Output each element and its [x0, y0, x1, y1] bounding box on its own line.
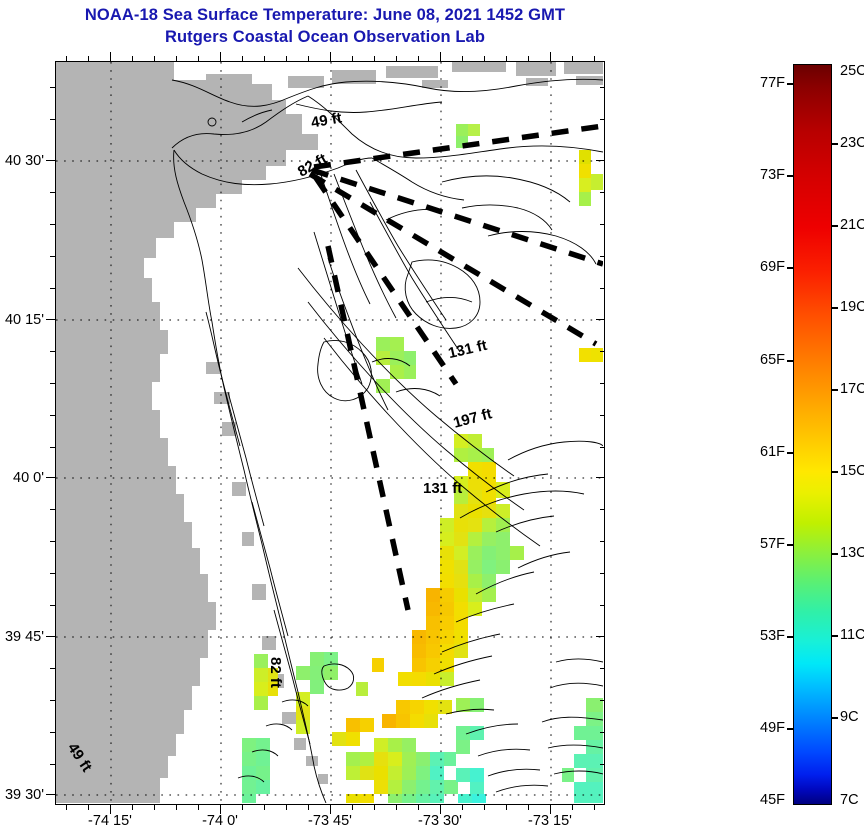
y-axis-label: 40 0' [0, 470, 44, 486]
y-tick-minor [50, 351, 55, 352]
y-tick-major [46, 160, 55, 161]
x-axis-label: -74 15' [88, 813, 132, 829]
y-tick-minor [50, 732, 55, 733]
x-tick-top [594, 56, 595, 61]
x-tick-minor [418, 805, 419, 810]
y-tick-major [46, 319, 55, 320]
colorbar-tick-c [831, 553, 838, 555]
x-tick-top [440, 52, 441, 61]
x-tick-top [176, 56, 177, 61]
map-clip: 49 ft 82 ft 131 ft 197 ft 131 ft 82 ft 4… [56, 62, 604, 804]
x-tick-minor [528, 805, 529, 810]
colorbar-label-c: 25C [840, 63, 864, 79]
x-tick-minor [308, 805, 309, 810]
colorbar-label-c: 23C [840, 135, 864, 151]
x-tick-minor [396, 805, 397, 810]
x-tick-top [110, 52, 111, 61]
y-tick-major [46, 477, 55, 478]
x-tick-top [374, 56, 375, 61]
y-tick-major [46, 794, 55, 795]
chart-title-block: NOAA-18 Sea Surface Temperature: June 08… [0, 4, 650, 48]
y-tick-right [600, 447, 605, 448]
colorbar-tick-c [831, 471, 838, 473]
colorbar-tick-f [787, 83, 794, 85]
land-mask [56, 62, 603, 803]
x-tick-top [220, 52, 221, 61]
y-tick-right [600, 573, 605, 574]
colorbar-label-f: 69F [760, 259, 785, 275]
x-tick-minor [176, 805, 177, 810]
x-tick-minor [264, 805, 265, 810]
x-tick-top [506, 56, 507, 61]
x-tick-minor [66, 805, 67, 810]
x-tick-minor [374, 805, 375, 810]
y-tick-minor [50, 447, 55, 448]
y-axis-label: 40 15' [0, 312, 44, 328]
x-axis-label: -73 45' [308, 813, 352, 829]
x-tick-top [550, 52, 551, 61]
map-graphics [56, 62, 603, 803]
y-tick-right [600, 119, 605, 120]
x-tick-top [154, 56, 155, 61]
x-tick-minor [154, 805, 155, 810]
y-tick-minor [50, 224, 55, 225]
x-tick-minor [198, 805, 199, 810]
y-tick-minor [50, 764, 55, 765]
colorbar-tick-f [787, 636, 794, 638]
depth-label-82ft-south: 82 ft [267, 657, 284, 688]
title-line-2: Rutgers Coastal Ocean Observation Lab [0, 26, 650, 48]
colorbar-tick-f [787, 728, 794, 730]
colorbar-tick-f [787, 175, 794, 177]
x-tick-minor [242, 805, 243, 810]
colorbar-label-f: 45F [760, 792, 785, 808]
x-tick-minor [286, 805, 287, 810]
x-tick-minor [572, 805, 573, 810]
sst-map-plot-area[interactable]: 49 ft 82 ft 131 ft 197 ft 131 ft 82 ft 4… [55, 61, 605, 805]
y-tick-right [600, 224, 605, 225]
colorbar-label-f: 73F [760, 167, 785, 183]
colorbar-label-c: 9C [840, 709, 859, 725]
x-tick-minor [594, 805, 595, 810]
y-tick-right [596, 636, 605, 637]
colorbar-tick-c [831, 635, 838, 637]
x-tick-top [462, 56, 463, 61]
y-tick-minor [50, 700, 55, 701]
y-tick-minor [50, 509, 55, 510]
x-tick-top [198, 56, 199, 61]
colorbar-label-f: 65F [760, 352, 785, 368]
x-tick-minor [88, 805, 89, 810]
y-axis-label: 39 45' [0, 629, 44, 645]
x-axis-label: -73 15' [528, 813, 572, 829]
colorbar-label-f: 57F [760, 536, 785, 552]
colorbar-label-c: 15C [840, 463, 864, 479]
colorbar-label-c: 11C [840, 627, 864, 643]
colorbar-gradient [794, 65, 831, 804]
y-tick-minor [50, 87, 55, 88]
colorbar-tick-f [787, 360, 794, 362]
x-tick-top [308, 56, 309, 61]
x-tick-minor [484, 805, 485, 810]
y-tick-minor [50, 192, 55, 193]
colorbar-tick-f [787, 452, 794, 454]
y-tick-right [600, 288, 605, 289]
x-tick-top [484, 56, 485, 61]
x-tick-top [242, 56, 243, 61]
y-tick-right [596, 319, 605, 320]
colorbar-label-c: 19C [840, 299, 864, 315]
y-tick-right [596, 160, 605, 161]
x-tick-minor [352, 805, 353, 810]
y-axis-label: 39 30' [0, 787, 44, 803]
y-tick-major [46, 636, 55, 637]
colorbar-tick-c [831, 717, 838, 719]
y-tick-right [600, 192, 605, 193]
x-tick-top [66, 56, 67, 61]
x-tick-top [418, 56, 419, 61]
x-tick-top [352, 56, 353, 61]
y-tick-right [600, 351, 605, 352]
y-tick-minor [50, 256, 55, 257]
y-tick-minor [50, 605, 55, 606]
y-tick-minor [50, 288, 55, 289]
colorbar-label-c: 7C [840, 792, 859, 808]
colorbar-tick-c [831, 143, 838, 145]
x-tick-top [264, 56, 265, 61]
y-tick-minor [50, 541, 55, 542]
colorbar-label-c: 21C [840, 217, 864, 233]
y-tick-right [600, 256, 605, 257]
x-tick-top [286, 56, 287, 61]
colorbar-tick-f [787, 267, 794, 269]
y-tick-right [600, 383, 605, 384]
y-tick-right [600, 509, 605, 510]
colorbar-tick-f [787, 544, 794, 546]
colorbar-label-f: 77F [760, 75, 785, 91]
x-tick-top [330, 52, 331, 61]
y-tick-minor [50, 119, 55, 120]
x-axis-label: -74 0' [202, 813, 238, 829]
x-tick-top [396, 56, 397, 61]
colorbar-label-f: 49F [760, 720, 785, 736]
y-tick-right [600, 700, 605, 701]
y-axis-label: 40 30' [0, 153, 44, 169]
y-tick-right [596, 477, 605, 478]
colorbar-label-f: 61F [760, 444, 785, 460]
colorbar-tick-c [831, 307, 838, 309]
x-axis-label: -73 30' [418, 813, 462, 829]
depth-label-131ft-lower: 131 ft [423, 480, 462, 497]
y-tick-right [600, 764, 605, 765]
sst-colorbar[interactable]: 77F 73F 69F 65F 61F 57F 53F 49F 45F 25C … [793, 64, 832, 805]
y-tick-right [600, 415, 605, 416]
y-tick-right [600, 732, 605, 733]
y-tick-right [600, 541, 605, 542]
x-tick-top [132, 56, 133, 61]
x-tick-top [528, 56, 529, 61]
colorbar-tick-c [831, 225, 838, 227]
y-tick-minor [50, 668, 55, 669]
colorbar-label-c: 13C [840, 545, 864, 561]
y-tick-minor [50, 383, 55, 384]
x-tick-minor [462, 805, 463, 810]
x-tick-top [572, 56, 573, 61]
y-tick-right [600, 87, 605, 88]
x-tick-top [88, 56, 89, 61]
y-tick-right [600, 668, 605, 669]
colorbar-tick-c [831, 389, 838, 391]
y-tick-minor [50, 415, 55, 416]
y-tick-right [600, 605, 605, 606]
colorbar-label-c: 17C [840, 381, 864, 397]
colorbar-label-f: 53F [760, 628, 785, 644]
y-tick-minor [50, 573, 55, 574]
x-tick-minor [132, 805, 133, 810]
x-tick-minor [506, 805, 507, 810]
title-line-1: NOAA-18 Sea Surface Temperature: June 08… [0, 4, 650, 26]
